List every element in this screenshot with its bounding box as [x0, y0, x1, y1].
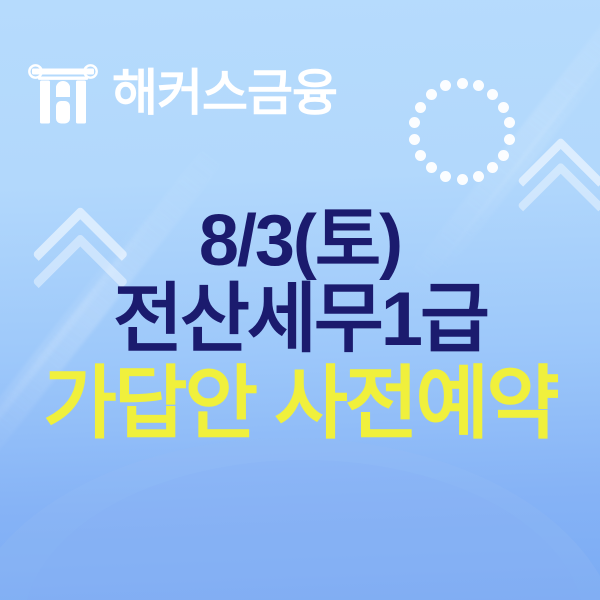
dot	[457, 78, 468, 89]
dot	[487, 162, 498, 173]
dot	[426, 89, 437, 100]
headline-block: 8/3(토) 전산세무1급 가답안 사전예약	[0, 206, 600, 443]
dot	[504, 117, 515, 128]
bottom-circle-shape-decoration-inner	[24, 460, 584, 600]
dot	[440, 80, 451, 91]
dot	[487, 89, 498, 100]
dot	[426, 162, 437, 173]
event-date-text: 8/3(토)	[0, 206, 600, 277]
dot	[504, 134, 515, 145]
promo-highlight-text: 가답안 사전예약	[0, 365, 600, 443]
hackers-h-mark-icon	[26, 56, 100, 130]
dot	[498, 150, 509, 161]
dot	[473, 171, 484, 182]
brand-name-text: 해커스금융	[112, 68, 337, 118]
dot	[498, 102, 509, 113]
brand-logo[interactable]: 해커스금융	[26, 56, 337, 130]
bottom-circle-shape-decoration	[0, 438, 600, 600]
dot	[440, 171, 451, 182]
dot	[473, 80, 484, 91]
promo-banner: 해커스금융 8/3(토) 전산세무1급 가답안 사전예약	[0, 0, 600, 600]
dot	[409, 134, 420, 145]
dot	[409, 117, 420, 128]
dot	[457, 174, 468, 185]
dot	[415, 150, 426, 161]
dotted-circle-decoration	[414, 83, 510, 179]
exam-subject-text: 전산세무1급	[0, 283, 600, 357]
dot	[415, 102, 426, 113]
